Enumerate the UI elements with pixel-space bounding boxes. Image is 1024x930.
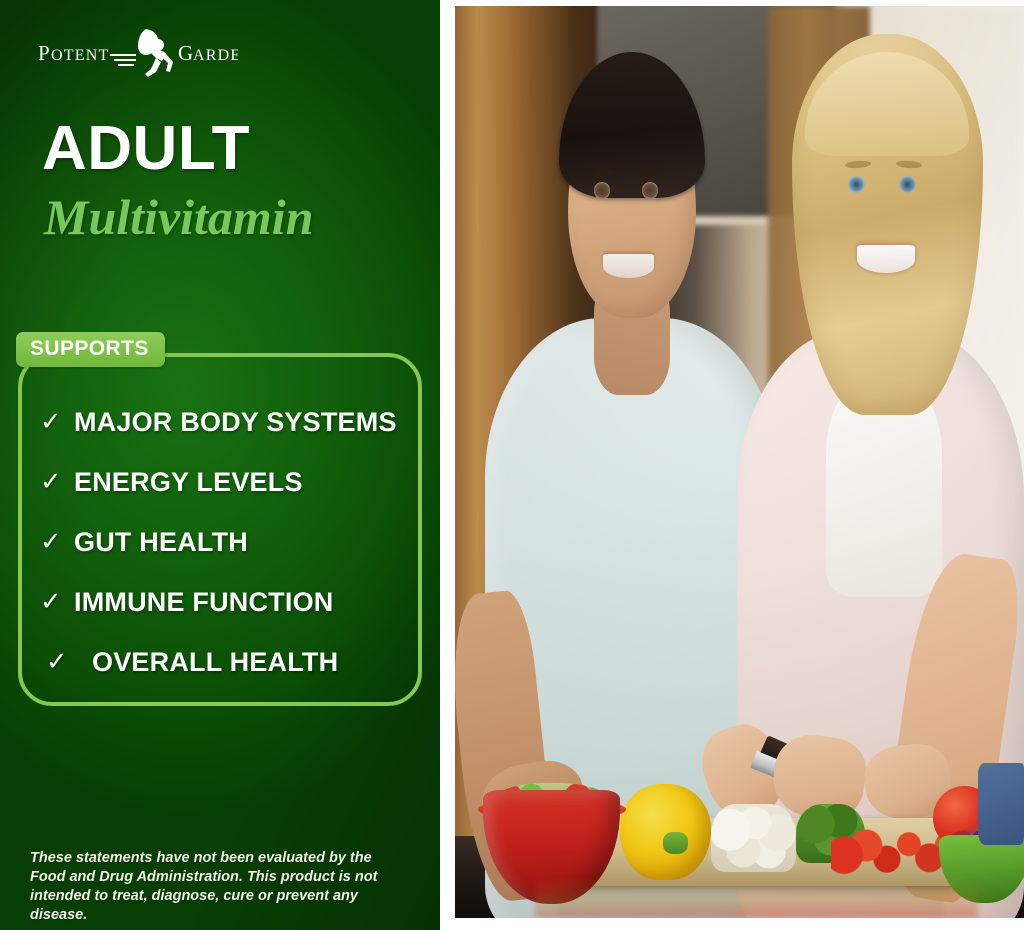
benefit-item: ✓ ENERGY LEVELS [40, 452, 420, 512]
jeans-detail [978, 763, 1024, 845]
benefit-label: OVERALL HEALTH [80, 647, 338, 678]
headline-block: ADULT Multivitamin [42, 118, 314, 246]
cauliflower [711, 804, 796, 872]
supports-badge-label: SUPPORTS [30, 338, 149, 360]
benefit-label: GUT HEALTH [74, 527, 248, 558]
counter-reflection [535, 877, 979, 918]
benefit-label: MAJOR BODY SYSTEMS [74, 407, 397, 438]
brand-logo: P OTENT G ARDEN [38, 27, 238, 79]
svg-text:G: G [178, 41, 194, 65]
pepper-stem [663, 832, 689, 854]
man-eye-left [594, 182, 611, 198]
fda-disclaimer: These statements have not been evaluated… [30, 849, 402, 925]
benefit-label: ENERGY LEVELS [74, 467, 303, 498]
check-icon: ✓ [40, 589, 74, 615]
benefit-item: ✓ IMMUNE FUNCTION [40, 572, 420, 632]
benefits-list: ✓ MAJOR BODY SYSTEMS ✓ ENERGY LEVELS ✓ G… [40, 392, 420, 692]
photo-frame [440, 0, 1024, 930]
benefit-item: ✓ GUT HEALTH [40, 512, 420, 572]
benefit-item: ✓ OVERALL HEALTH [40, 632, 420, 692]
svg-text:OTENT: OTENT [51, 47, 109, 64]
check-icon: ✓ [40, 409, 74, 435]
lifestyle-photo [455, 6, 1024, 918]
check-icon: ✓ [40, 529, 74, 555]
yellow-bell-pepper [620, 784, 711, 880]
man-smile [603, 254, 654, 277]
woman-eye-left [848, 176, 865, 192]
man-hair [559, 52, 706, 198]
product-poster: P OTENT G ARDEN Potent Garden ADULT [0, 0, 1024, 930]
benefit-label: IMMUNE FUNCTION [74, 587, 333, 618]
benefit-item: ✓ MAJOR BODY SYSTEMS [40, 392, 420, 452]
supports-badge: SUPPORTS [16, 332, 165, 367]
check-icon: ✓ [40, 649, 80, 675]
headline-secondary: Multivitamin [44, 188, 314, 246]
svg-text:P: P [38, 41, 50, 65]
svg-text:ARDEN: ARDEN [193, 47, 238, 64]
headline-primary: ADULT [42, 118, 314, 180]
woman-smile [857, 245, 915, 273]
check-icon: ✓ [40, 469, 74, 495]
left-info-panel: P OTENT G ARDEN Potent Garden ADULT [0, 0, 440, 930]
man-eye-right [642, 182, 659, 198]
